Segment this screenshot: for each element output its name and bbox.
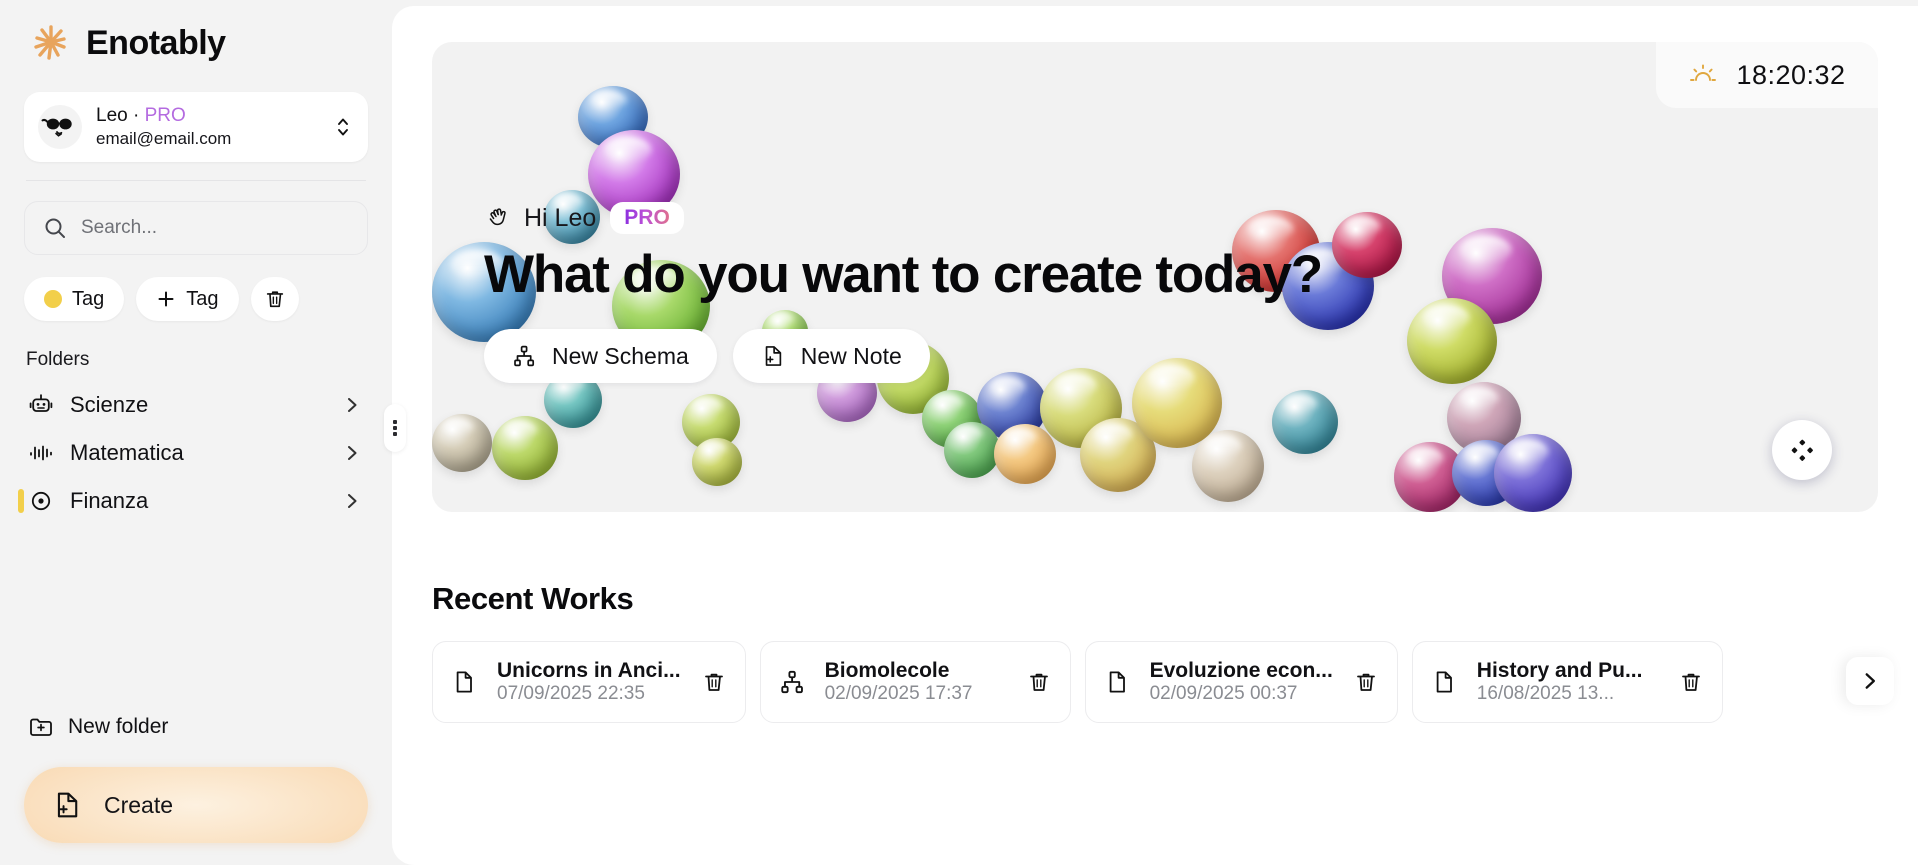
sunset-icon — [1688, 62, 1718, 88]
list-item-text: History and Pu... 16/08/2025 13... — [1477, 659, 1658, 705]
new-folder-label: New folder — [68, 715, 168, 739]
chevron-up-down-icon[interactable] — [334, 112, 352, 142]
recent-works-title: Recent Works — [432, 581, 1918, 617]
app-root: Enotably Leo · PRO — [0, 0, 1918, 865]
list-item-title: Biomolecole — [825, 659, 950, 682]
main-content: Hi Leo PRO What do you want to create to… — [392, 6, 1918, 865]
sidebar-divider — [26, 180, 366, 181]
account-separator: · — [133, 105, 139, 126]
sidebar: Enotably Leo · PRO — [0, 0, 392, 865]
brand-name: Enotably — [86, 24, 226, 63]
apps-grid-button[interactable] — [1772, 420, 1832, 480]
sidebar-item-label: Finanza — [70, 488, 326, 514]
clock-time: 18:20:32 — [1736, 60, 1845, 91]
decorative-orb — [1494, 434, 1572, 512]
list-item-text: Evoluzione econ... 02/09/2025 00:37 — [1150, 659, 1333, 705]
list-item-date: 16/08/2025 13... — [1477, 683, 1614, 704]
folders-list: Scienze — [24, 381, 368, 525]
decorative-orb — [1192, 430, 1264, 502]
clock-widget: 18:20:32 — [1656, 42, 1878, 108]
chevron-right-icon[interactable] — [342, 491, 362, 511]
search-input[interactable]: Search... — [24, 201, 368, 255]
list-item[interactable]: Evoluzione econ... 02/09/2025 00:37 — [1085, 641, 1398, 723]
chevron-right-icon[interactable] — [342, 395, 362, 415]
list-item-title: Evoluzione econ... — [1150, 659, 1333, 682]
page-title: What do you want to create today? — [484, 244, 1322, 305]
vertical-dots-handle-icon[interactable] — [384, 404, 406, 452]
file-icon — [451, 669, 477, 695]
tag-toolbar: Tag Tag — [24, 277, 368, 321]
list-item-title: History and Pu... — [1477, 659, 1643, 682]
trash-icon[interactable] — [701, 670, 727, 694]
add-tag-label: Tag — [186, 288, 218, 311]
trash-icon — [264, 288, 286, 310]
account-text: Leo · PRO email@email.com — [96, 104, 322, 150]
greeting-row: Hi Leo PRO — [484, 202, 1322, 234]
hero-content: Hi Leo PRO What do you want to create to… — [484, 202, 1322, 383]
account-name: Leo — [96, 105, 128, 126]
list-item[interactable]: Biomolecole 02/09/2025 17:37 — [760, 641, 1071, 723]
list-item-date: 02/09/2025 00:37 — [1150, 683, 1298, 704]
list-item-title: Unicorns in Anci... — [497, 659, 681, 682]
greeting-text: Hi Leo — [524, 204, 596, 233]
list-item-text: Unicorns in Anci... 07/09/2025 22:35 — [497, 659, 681, 705]
sitemap-icon — [779, 669, 805, 695]
folders-section-label: Folders — [26, 349, 368, 371]
decorative-orb — [432, 414, 492, 472]
file-icon — [1104, 669, 1130, 695]
account-plan-badge: PRO — [145, 105, 186, 126]
recent-works-section: Recent Works Unicorns in Anci... 07/09/2… — [432, 581, 1918, 723]
recent-works-list: Unicorns in Anci... 07/09/2025 22:35 — [432, 641, 1918, 723]
decorative-orb — [692, 438, 742, 486]
pro-badge: PRO — [610, 202, 684, 234]
sunglasses-avatar-icon — [36, 103, 84, 151]
sidebar-item-label: Scienze — [70, 392, 326, 418]
plus-icon — [156, 289, 176, 309]
decorative-orb — [994, 424, 1056, 484]
trash-icon[interactable] — [1678, 670, 1704, 694]
account-email: email@email.com — [96, 129, 231, 148]
decorative-orb — [944, 422, 1000, 478]
create-button[interactable]: Create — [24, 767, 368, 843]
trash-icon[interactable] — [1353, 670, 1379, 694]
asterisk-spark-icon — [30, 22, 72, 64]
sidebar-item-label: Matematica — [70, 440, 326, 466]
decorative-orb — [1407, 298, 1497, 384]
sidebar-item-scienze[interactable]: Scienze — [24, 381, 368, 429]
hero-actions: New Schema New Note — [484, 329, 1322, 383]
chevron-right-icon — [1859, 670, 1881, 692]
new-schema-button[interactable]: New Schema — [484, 329, 717, 383]
search-placeholder: Search... — [81, 217, 157, 239]
account-switcher[interactable]: Leo · PRO email@email.com — [24, 92, 368, 162]
search-icon — [43, 216, 67, 240]
file-icon — [1431, 669, 1457, 695]
create-label: Create — [104, 792, 173, 819]
brand[interactable]: Enotably — [24, 0, 368, 74]
file-plus-icon — [52, 790, 82, 820]
waving-hand-icon — [484, 205, 510, 231]
decorative-orb — [1332, 212, 1402, 278]
tag-filter-chip[interactable]: Tag — [24, 277, 124, 321]
sidebar-footer: New folder Create — [24, 705, 368, 843]
grid-diamond-icon — [1789, 437, 1815, 463]
account-name-line: Leo · PRO — [96, 105, 186, 126]
list-item-date: 02/09/2025 17:37 — [825, 683, 973, 704]
tag-chip-label: Tag — [72, 288, 104, 311]
sidebar-item-finanza[interactable]: Finanza — [24, 477, 368, 525]
add-tag-chip[interactable]: Tag — [136, 277, 238, 321]
carousel-next-button[interactable] — [1846, 657, 1894, 705]
waveform-icon — [28, 440, 54, 466]
tag-dot-icon — [44, 290, 62, 308]
new-schema-label: New Schema — [552, 343, 689, 370]
file-plus-icon — [761, 344, 785, 368]
list-item-text: Biomolecole 02/09/2025 17:37 — [825, 659, 1006, 705]
circle-dot-icon — [28, 488, 54, 514]
trash-icon[interactable] — [1026, 670, 1052, 694]
delete-tag-button[interactable] — [251, 277, 299, 321]
decorative-orb — [1272, 390, 1338, 454]
chevron-right-icon[interactable] — [342, 443, 362, 463]
list-item[interactable]: History and Pu... 16/08/2025 13... — [1412, 641, 1723, 723]
hero-banner: Hi Leo PRO What do you want to create to… — [432, 42, 1878, 512]
decorative-orb — [492, 416, 558, 480]
sitemap-icon — [512, 344, 536, 368]
folder-plus-icon — [28, 714, 54, 740]
pro-badge-label: PRO — [624, 206, 670, 229]
sidebar-item-matematica[interactable]: Matematica — [24, 429, 368, 477]
robot-icon — [28, 392, 54, 418]
folder-tag-color-bar — [18, 489, 24, 513]
new-note-button[interactable]: New Note — [733, 329, 930, 383]
list-item[interactable]: Unicorns in Anci... 07/09/2025 22:35 — [432, 641, 746, 723]
new-note-label: New Note — [801, 343, 902, 370]
new-folder-button[interactable]: New folder — [24, 705, 368, 749]
list-item-date: 07/09/2025 22:35 — [497, 683, 645, 704]
